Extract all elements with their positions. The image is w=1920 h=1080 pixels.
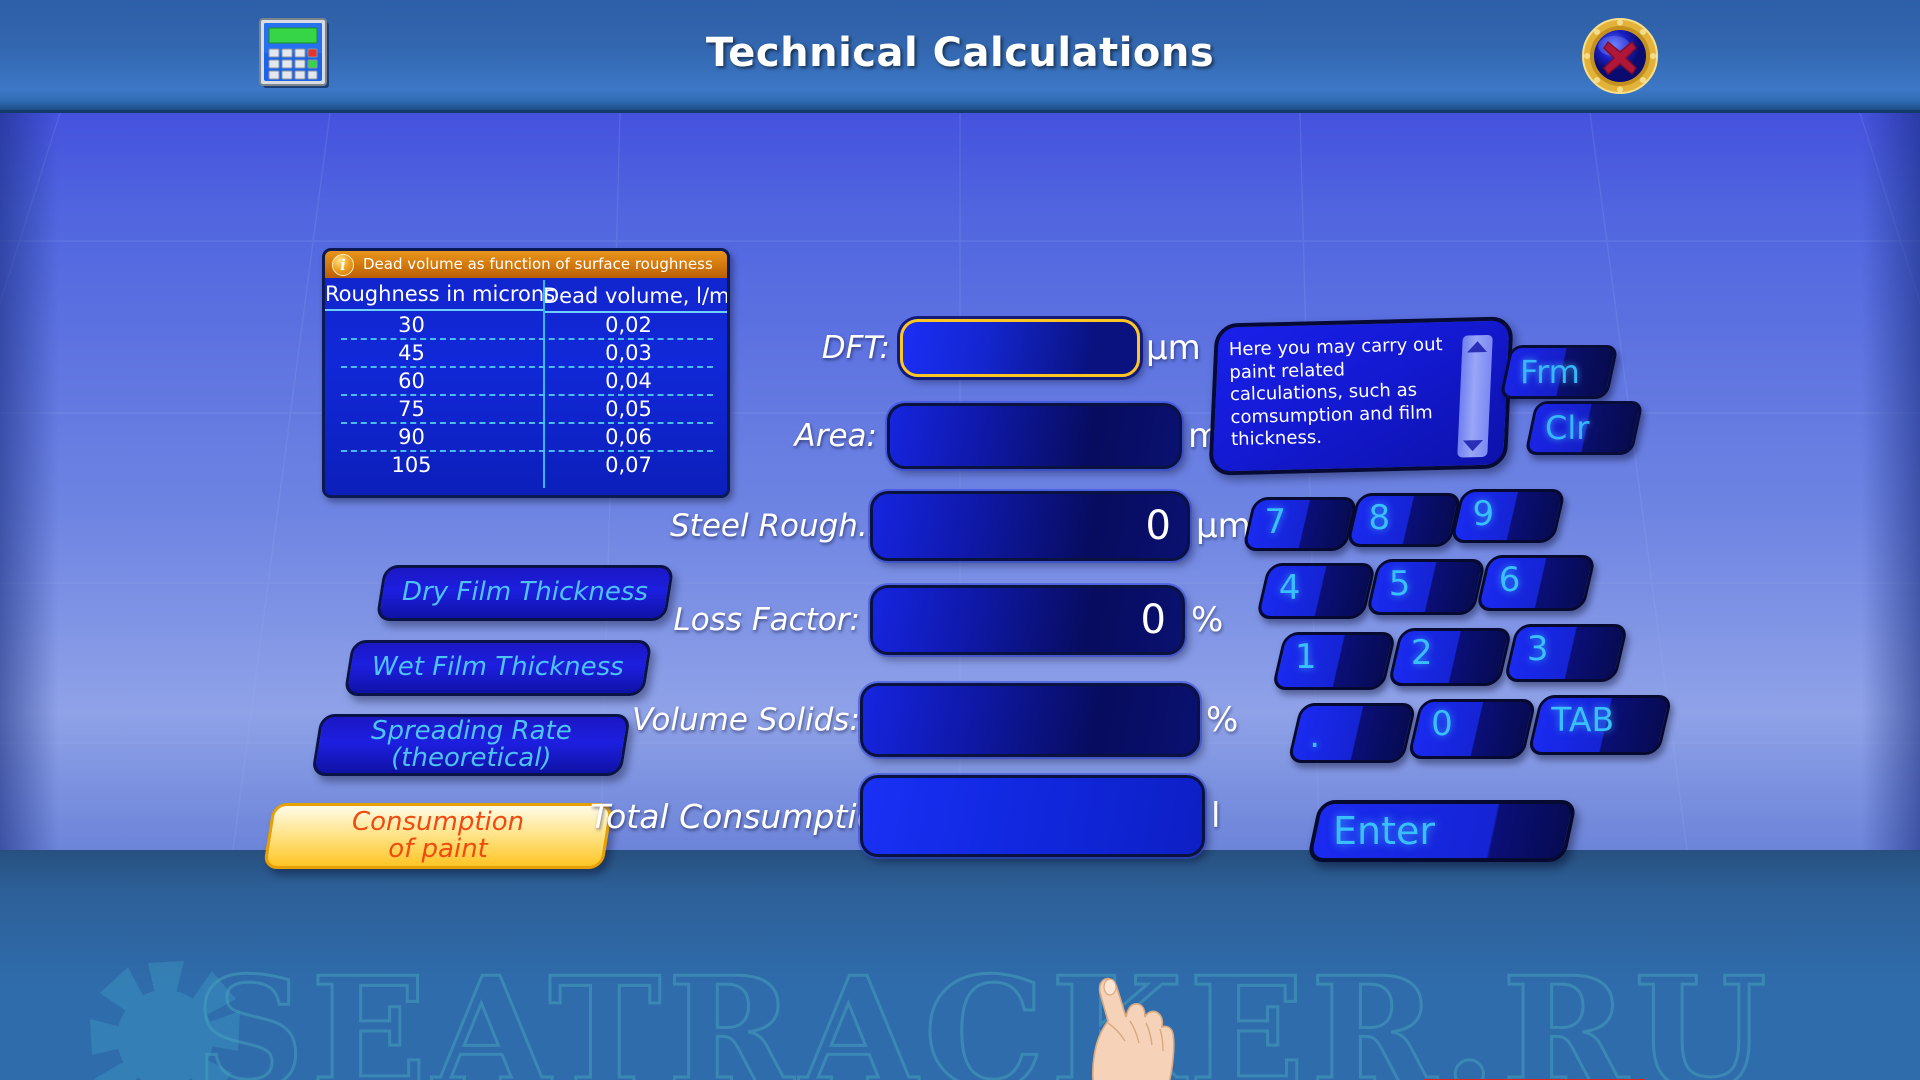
help-info-box: Here you may carry out paint related cal… [1208,316,1513,475]
label-total-consumption: Total Consumption: [590,797,860,836]
stage-left-edge [0,113,58,873]
sidebar-item-label: Spreading Rate [371,718,572,745]
key-label: 9 [1472,494,1494,534]
label-dft: DFT: [700,330,900,366]
scroll-up-icon[interactable] [1467,341,1488,352]
sidebar-item-sublabel: (theoretical) [371,745,572,772]
help-info-text: Here you may carry out paint related cal… [1229,334,1450,452]
main-stage: SEATRACKER.RU Dead volume as function of… [0,113,1920,1080]
key-label: TAB [1551,700,1614,739]
keypad-key-8[interactable]: 8 [1346,493,1462,547]
table-row: 105 0,07 [325,452,727,480]
cell-roughness: 30 [325,312,542,340]
clr-button[interactable]: Clr [1524,401,1643,455]
sidebar-item-label: Consumption [352,809,524,836]
label-volume-solids: Volume Solids: [632,702,860,738]
column-header-dead-volume: Dead volume, l/m2 [543,277,729,313]
cell-roughness: 75 [325,396,542,424]
label-area: Area: [700,418,887,454]
keypad-key-7[interactable]: 7 [1242,497,1358,551]
form-row-total-consumption: Total Consumption: l [590,775,1220,857]
table-row: 75 0,05 [325,396,727,424]
table-title-label: Dead volume as function of surface rough… [363,255,713,273]
close-porthole-icon[interactable] [1580,16,1660,96]
vertical-scrollbar[interactable] [1457,335,1493,458]
key-label: 1 [1295,637,1317,677]
sidebar-item-label: Wet Film Thickness [372,654,624,681]
table-row: 30 0,02 [325,312,727,340]
label-loss-factor: Loss Factor: [672,602,870,638]
keypad-key-3[interactable]: 3 [1503,624,1628,682]
volume-solids-input[interactable] [860,683,1200,757]
form-row-loss-factor: Loss Factor: 0 % [672,585,1223,655]
cell-roughness: 60 [325,368,542,396]
keypad-key-tab[interactable]: TAB [1527,695,1673,755]
steel-roughness-input[interactable]: 0 [870,491,1190,561]
technical-calculations-window: Technical Calculations [0,0,1920,1080]
unit-loss-factor: % [1191,600,1223,640]
key-label: 3 [1527,629,1549,669]
frm-button-label: Frm [1520,353,1580,391]
table-title: Dead volume as function of surface rough… [325,251,727,278]
keypad-key-6[interactable]: 6 [1476,555,1597,611]
key-label: 4 [1279,568,1301,608]
key-label: 5 [1389,564,1411,604]
cell-roughness: 90 [325,424,542,452]
table-body: Roughness in microns Dead volume, l/m2 3… [325,278,727,495]
keypad-key-0[interactable]: 0 [1407,699,1537,759]
key-label: 8 [1368,498,1390,538]
form-row-dft: DFT: µm [700,319,1201,377]
keypad-key-4[interactable]: 4 [1256,563,1377,619]
sidebar-item-label-group: Spreading Rate (theoretical) [371,718,572,773]
clr-button-label: Clr [1545,409,1589,447]
key-label: 6 [1499,560,1521,600]
keypad-key-1[interactable]: 1 [1271,632,1396,690]
form-row-volume-solids: Volume Solids: % [632,683,1238,757]
frm-button[interactable]: Frm [1499,345,1618,399]
dead-volume-table: Dead volume as function of surface rough… [322,248,730,498]
unit-volume-solids: % [1206,700,1238,740]
stage-right-edge [1862,113,1920,873]
cell-roughness: 105 [325,452,542,480]
keypad-key-9[interactable]: 9 [1450,489,1566,543]
sidebar-item-dry-film-thickness[interactable]: Dry Film Thickness [376,565,675,621]
key-label: 7 [1264,502,1286,542]
area-input[interactable] [887,403,1182,469]
unit-total-consumption: l [1211,796,1220,836]
sidebar-item-label-group: Consumption of paint [352,809,524,864]
form-row-steel-roughness: Steel Rough.: 0 µm [670,491,1251,561]
sidebar-item-sublabel: of paint [352,836,524,863]
label-steel-roughness: Steel Rough.: [670,508,870,544]
keypad-key-2[interactable]: 2 [1387,628,1512,686]
unit-dft: µm [1146,328,1201,368]
sidebar-item-consumption-of-paint[interactable]: Consumption of paint [263,803,613,869]
title-bar: Technical Calculations [0,0,1920,113]
total-consumption-output [860,775,1205,857]
key-label: 2 [1411,633,1433,673]
unit-steel-roughness: µm [1196,506,1251,546]
table-header-row: Roughness in microns Dead volume, l/m2 [325,278,727,312]
table-row: 90 0,06 [325,424,727,452]
form-row-area: Area: m² [700,403,1235,469]
keypad-key-5[interactable]: 5 [1366,559,1487,615]
column-header-roughness: Roughness in microns [325,279,543,311]
dft-input[interactable] [900,319,1140,377]
loss-factor-input[interactable]: 0 [870,585,1185,655]
scroll-down-icon[interactable] [1463,440,1484,451]
keypad-key-decimal[interactable]: . [1287,703,1417,763]
table-row: 60 0,04 [325,368,727,396]
cell-roughness: 45 [325,340,542,368]
sidebar-item-wet-film-thickness[interactable]: Wet Film Thickness [344,640,653,696]
table-row: 45 0,03 [325,340,727,368]
water-band [0,850,1920,1080]
info-icon: i [332,254,354,276]
key-label: Enter [1333,809,1435,853]
sidebar-item-label: Dry Film Thickness [402,579,648,606]
keypad-key-enter[interactable]: Enter [1306,800,1577,862]
key-label: 0 [1431,704,1453,744]
key-label: . [1309,716,1320,756]
sidebar-item-spreading-rate[interactable]: Spreading Rate (theoretical) [311,714,631,776]
